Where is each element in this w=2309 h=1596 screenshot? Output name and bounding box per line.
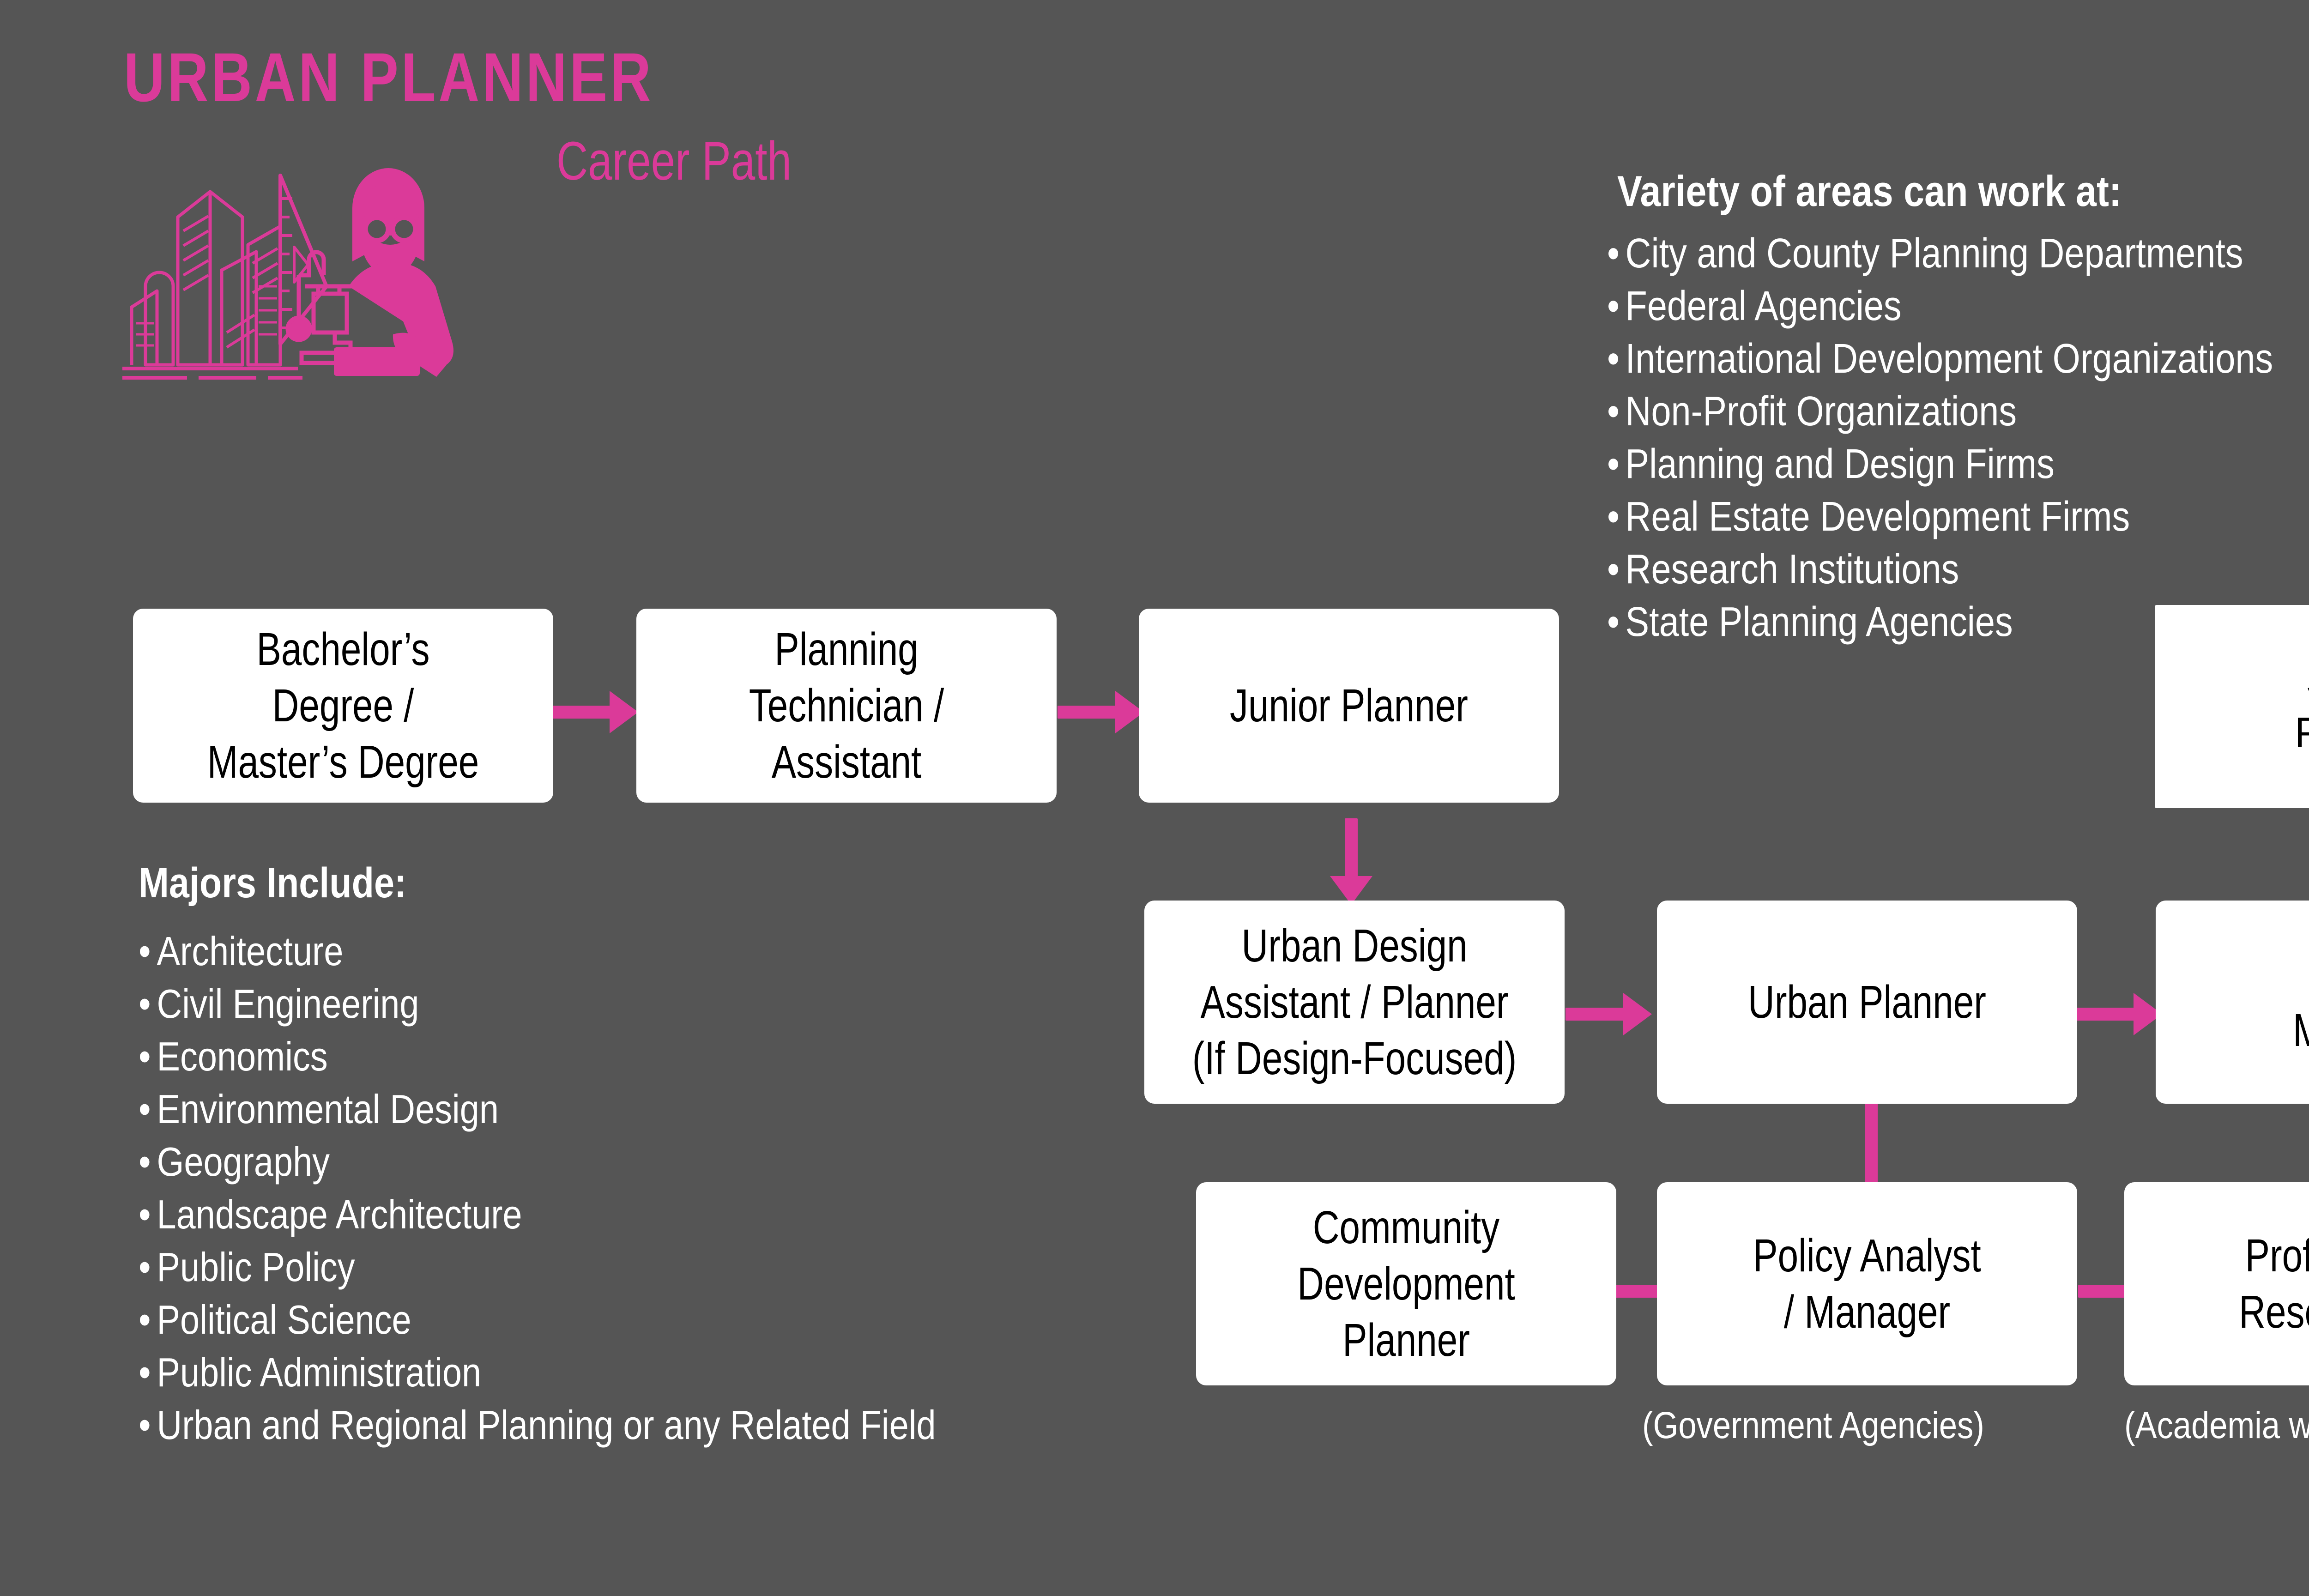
bullet-icon: • (1607, 280, 1626, 332)
list-item: •International Development Organizations (1607, 332, 2273, 385)
list-item: •Civil Engineering (139, 978, 936, 1030)
node-bachelors-masters-degree[interactable]: Bachelor’s Degree / Master’s Degree (133, 609, 553, 803)
areas-list-items: •City and County Planning Departments •F… (1607, 227, 2309, 648)
list-item: •City and County Planning Departments (1607, 227, 2273, 280)
page-subtitle: Career Path (556, 134, 792, 188)
list-item: •Public Administration (139, 1346, 936, 1399)
bullet-icon: • (139, 1030, 157, 1083)
list-item: •Real Estate Development Firms (1607, 490, 2273, 543)
career-path-infographic: URBAN PLANNER Career Path (0, 0, 2309, 1596)
node-community-development-planner[interactable]: Community Development Planner (1196, 1182, 1616, 1385)
bullet-icon: • (139, 1083, 157, 1136)
urban-planner-illustration-icon (118, 148, 533, 388)
bullet-icon: • (139, 925, 157, 978)
page-title: URBAN PLANNER (124, 42, 653, 112)
node-professor-researcher[interactable]: Professor / Researcher (2124, 1182, 2309, 1385)
bullet-icon: • (1607, 385, 1626, 438)
list-item: •Political Science (139, 1294, 936, 1346)
majors-list: Majors Include: •Architecture •Civil Eng… (139, 859, 1066, 1451)
node-senior-planner[interactable]: Senior Planner (2155, 605, 2309, 808)
areas-list-heading: Variety of areas can work at: (1617, 166, 2274, 216)
arrow-right-icon (610, 691, 638, 733)
majors-list-items: •Architecture •Civil Engineering •Econom… (139, 925, 1066, 1451)
caption-policy-analyst: (Government Agencies) (1642, 1404, 1984, 1447)
list-item: •Planning and Design Firms (1607, 438, 2273, 490)
connector-line (1566, 1008, 1626, 1021)
bullet-icon: • (1607, 438, 1626, 490)
node-urban-design-assistant-planner[interactable]: Urban Design Assistant / Planner (If Des… (1144, 901, 1565, 1104)
bullet-icon: • (139, 978, 157, 1030)
node-urban-planner[interactable]: Urban Planner (1657, 901, 2077, 1104)
list-item: •Public Policy (139, 1241, 936, 1294)
caption-professor: (Academia with Ph.D.) (2124, 1404, 2309, 1447)
connector-line (1865, 1099, 1878, 1187)
bullet-icon: • (1607, 543, 1626, 596)
list-item: •Research Institutions (1607, 543, 2273, 596)
node-junior-planner[interactable]: Junior Planner (1139, 609, 1559, 803)
bullet-icon: • (1607, 332, 1626, 385)
bullet-icon: • (139, 1399, 157, 1451)
node-policy-analyst-manager[interactable]: Policy Analyst / Manager (1657, 1182, 2077, 1385)
connector-line (2076, 1008, 2136, 1021)
bullet-icon: • (1607, 227, 1626, 280)
areas-list: Variety of areas can work at: •City and … (1607, 166, 2309, 648)
list-item: •Non-Profit Organizations (1607, 385, 2273, 438)
bullet-icon: • (139, 1346, 157, 1399)
connector-line (552, 706, 612, 719)
bullet-icon: • (139, 1294, 157, 1346)
list-item: •Landscape Architecture (139, 1188, 936, 1241)
node-planning-technician-assistant[interactable]: Planning Technician / Assistant (636, 609, 1057, 803)
majors-list-heading: Majors Include: (139, 859, 936, 907)
connector-line (1058, 706, 1118, 719)
list-item: •Geography (139, 1136, 936, 1188)
list-item: •Economics (139, 1030, 936, 1083)
list-item: •Urban and Regional Planning or any Rela… (139, 1399, 936, 1451)
bullet-icon: • (1607, 596, 1626, 648)
list-item: •Architecture (139, 925, 936, 978)
bullet-icon: • (139, 1188, 157, 1241)
bullet-icon: • (139, 1241, 157, 1294)
list-item: •Environmental Design (139, 1083, 936, 1136)
node-project-manager[interactable]: Project Manager (2156, 901, 2309, 1104)
arrow-right-icon (1623, 993, 1652, 1035)
bullet-icon: • (1607, 490, 1626, 543)
list-item: •Federal Agencies (1607, 280, 2273, 332)
bullet-icon: • (139, 1136, 157, 1188)
connector-line (1345, 818, 1358, 878)
